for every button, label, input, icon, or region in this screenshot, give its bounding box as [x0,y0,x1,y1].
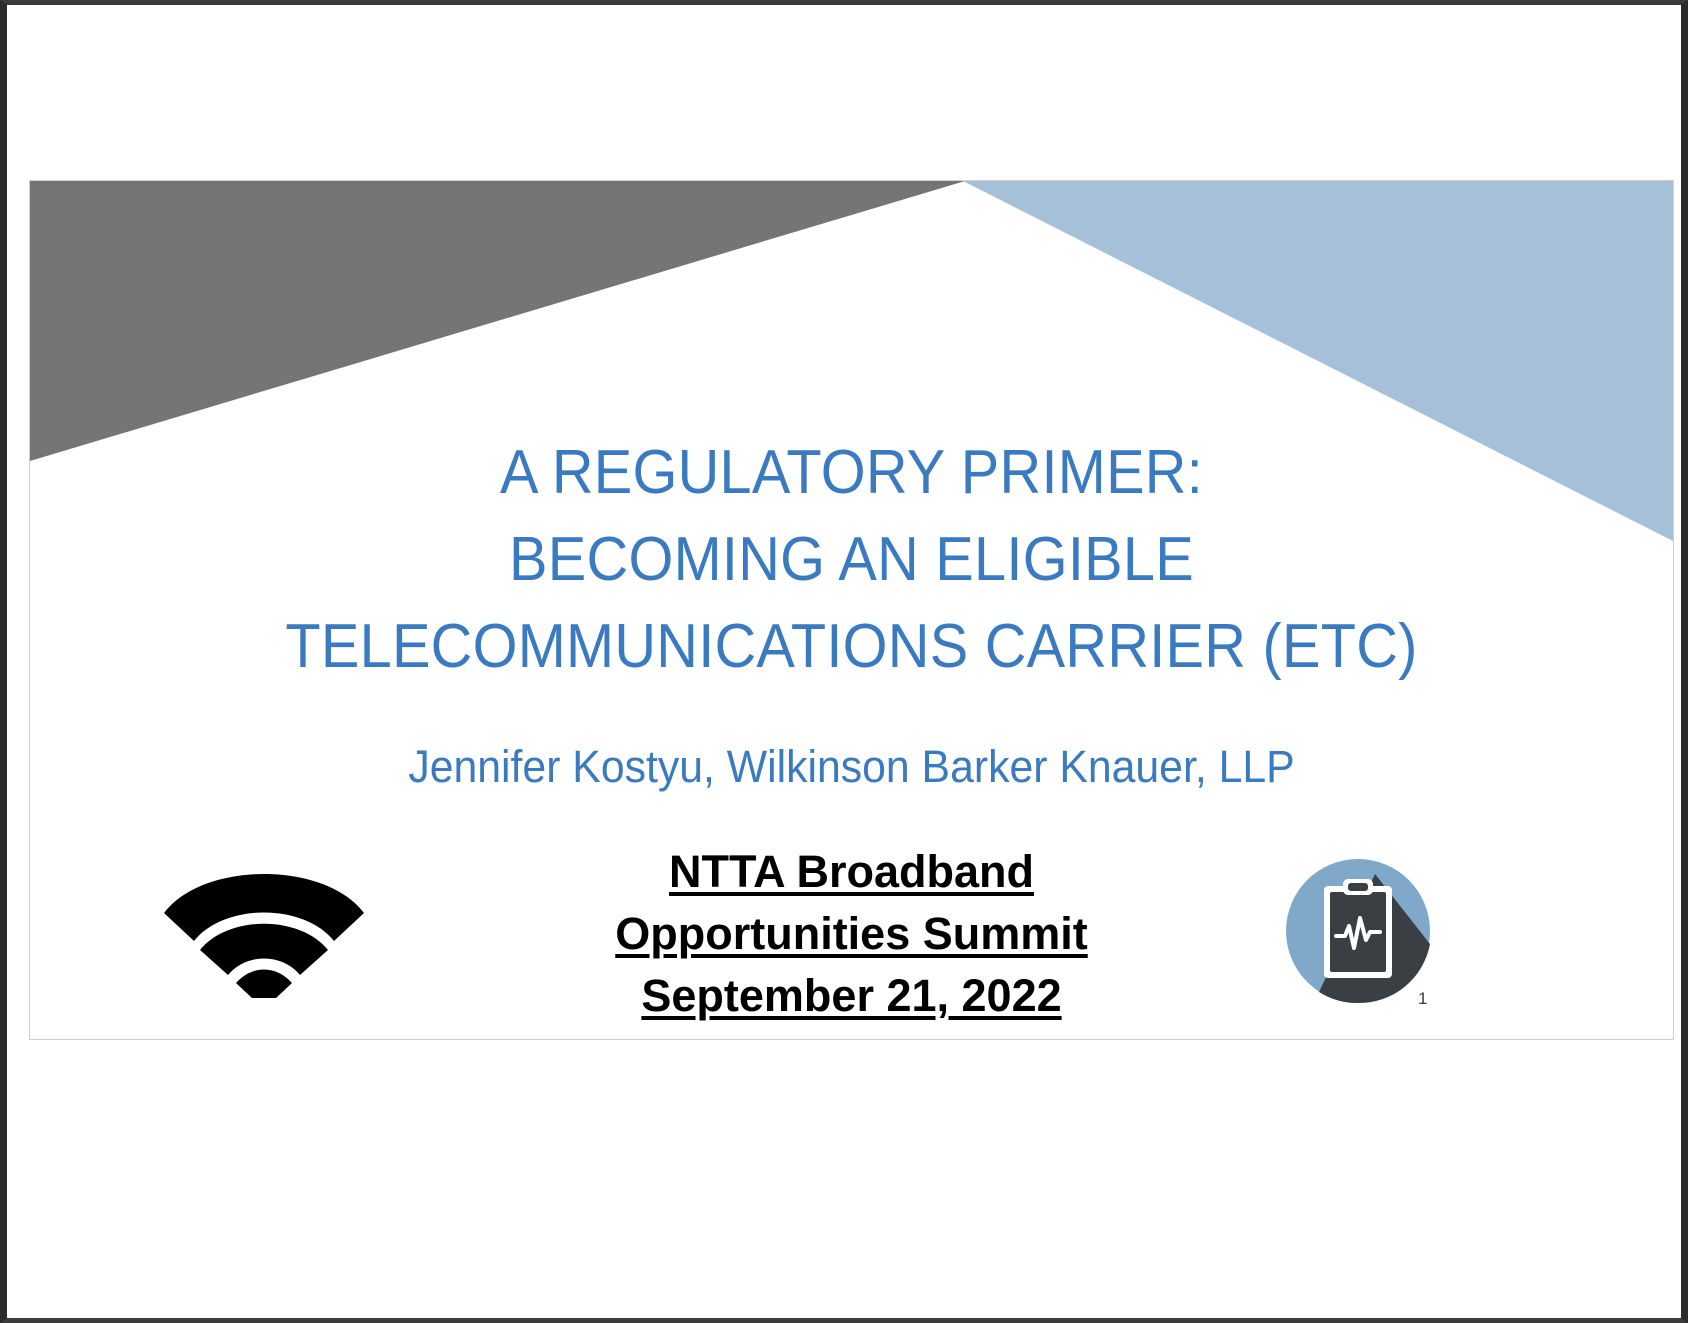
document-page-frame: A REGULATORY PRIMER: BECOMING AN ELIGIBL… [0,0,1688,1323]
presentation-slide: A REGULATORY PRIMER: BECOMING AN ELIGIBL… [29,180,1674,1040]
slide-page-number: 1 [1418,989,1427,1009]
slide-content: A REGULATORY PRIMER: BECOMING AN ELIGIBL… [30,181,1673,1039]
slide-title: A REGULATORY PRIMER: BECOMING AN ELIGIBL… [88,429,1616,690]
slide-author-line: Jennifer Kostyu, Wilkinson Barker Knauer… [71,741,1632,793]
wifi-icon [158,853,370,998]
clipboard-pulse-icon [1283,856,1433,1006]
